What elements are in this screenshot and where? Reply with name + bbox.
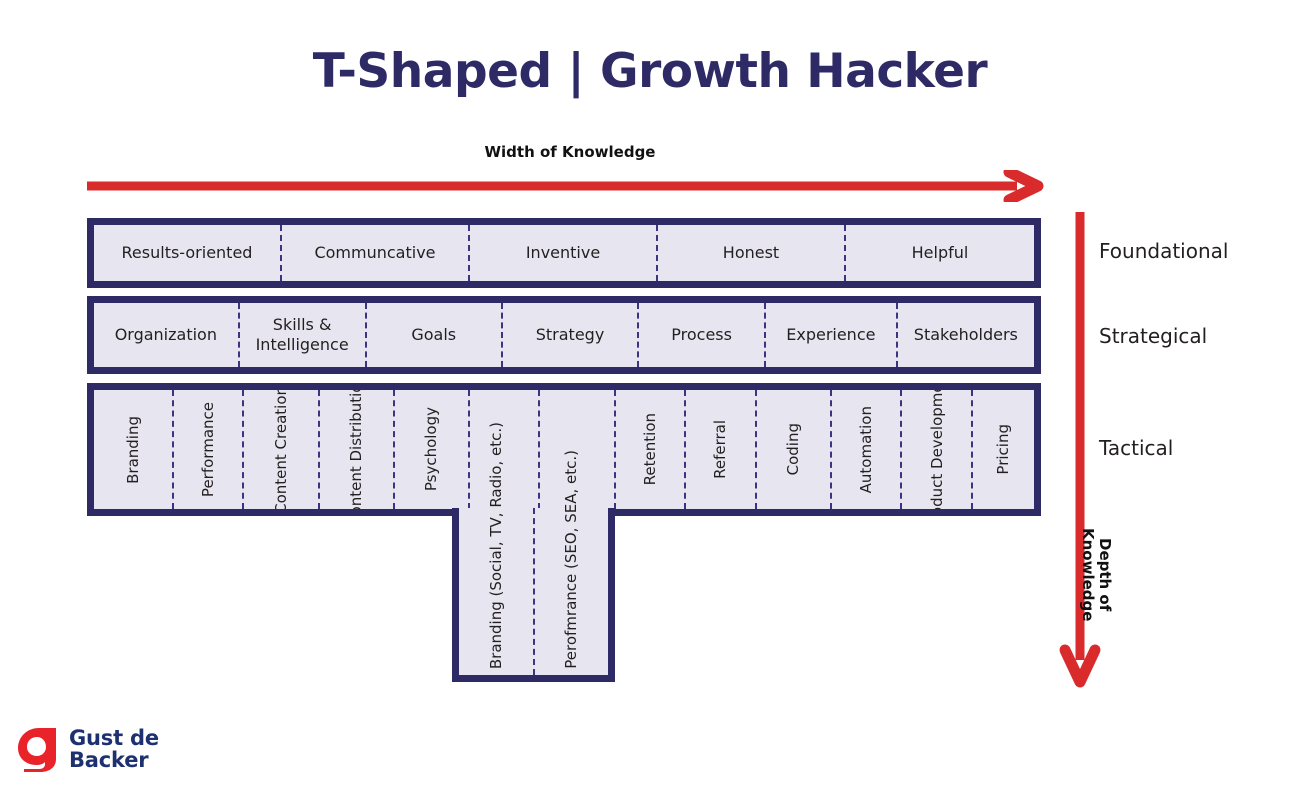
cell-stakeholders[interactable]: Stakeholders: [898, 303, 1034, 367]
brand-logo[interactable]: Gust de Backer: [16, 726, 159, 772]
cell-inventive[interactable]: Inventive: [470, 225, 658, 281]
width-arrow-icon: [87, 170, 1052, 202]
cell-pricing[interactable]: Pricing: [973, 390, 1034, 509]
cell-skills-intelligence[interactable]: Skills & Intelligence: [240, 303, 367, 367]
cell-label: Communcative: [314, 243, 435, 263]
logo-line-1: Gust de: [69, 727, 159, 749]
cell-content-distribution[interactable]: Content Distribution: [320, 390, 395, 509]
cell-communcative[interactable]: Communcative: [282, 225, 470, 281]
cell-retention[interactable]: Retention: [616, 390, 687, 509]
level-label-tactical: Tactical: [1099, 436, 1173, 460]
cell-label: Automation: [857, 406, 875, 493]
gust-de-backer-mark-icon: [16, 726, 60, 772]
cell-goals[interactable]: Goals: [367, 303, 503, 367]
cell-branding-channels[interactable]: Branding (Social, TV, Radio, etc.): [459, 508, 535, 675]
cell-label: Honest: [723, 243, 779, 263]
cell-coding[interactable]: Coding: [757, 390, 832, 509]
level-label-strategical: Strategical: [1099, 324, 1207, 348]
cell-content-creation[interactable]: Content Creation: [244, 390, 319, 509]
cell-label: Content Creation: [272, 390, 290, 509]
depth-line-2: Knowledge: [1079, 528, 1097, 621]
cell-label: Retention: [641, 413, 659, 485]
cell-label: Skills & Intelligence: [244, 315, 361, 354]
cell-label: Experience: [786, 325, 875, 345]
cell-stem-branding-top[interactable]: [470, 390, 541, 509]
band-strategical: Organization Skills & Intelligence Goals…: [87, 296, 1041, 374]
cell-helpful[interactable]: Helpful: [846, 225, 1034, 281]
depth-of-knowledge-label: Depth ofKnowledge: [1085, 528, 1113, 621]
cell-label: Pricing: [994, 424, 1012, 475]
cell-experience[interactable]: Experience: [766, 303, 898, 367]
cell-performance-channels[interactable]: Perofmrance (SEO, SEA, etc.): [535, 508, 609, 675]
cell-label: Inventive: [526, 243, 600, 263]
cell-label: Strategy: [536, 325, 605, 345]
cell-referral[interactable]: Referral: [686, 390, 757, 509]
cell-honest[interactable]: Honest: [658, 225, 846, 281]
cell-label: Coding: [784, 423, 802, 475]
cell-label: Referral: [711, 420, 729, 479]
cell-label: Product Development: [928, 390, 946, 509]
cell-process[interactable]: Process: [639, 303, 766, 367]
cell-label: Branding: [124, 416, 142, 484]
cell-psychology[interactable]: Psychology: [395, 390, 470, 509]
cell-label: Results-oriented: [122, 243, 253, 263]
band-foundational: Results-oriented Communcative Inventive …: [87, 218, 1041, 288]
cell-label: Organization: [115, 325, 217, 345]
cell-label: Perofmrance (SEO, SEA, etc.): [562, 450, 580, 669]
depth-line-1: Depth of: [1096, 538, 1114, 611]
cell-results-oriented[interactable]: Results-oriented: [94, 225, 282, 281]
t-stem-deep-expertise: Branding (Social, TV, Radio, etc.) Perof…: [452, 508, 615, 682]
cell-label: Branding (Social, TV, Radio, etc.): [487, 422, 505, 669]
cell-strategy[interactable]: Strategy: [503, 303, 639, 367]
logo-line-2: Backer: [69, 749, 159, 771]
cell-label: Content Distribution: [347, 390, 365, 509]
cell-label: Psychology: [422, 407, 440, 491]
cell-label: Helpful: [912, 243, 969, 263]
cell-performance[interactable]: Performance: [174, 390, 245, 509]
cell-label: Performance: [199, 402, 217, 497]
width-of-knowledge-label: Width of Knowledge: [0, 143, 1140, 161]
cell-automation[interactable]: Automation: [832, 390, 903, 509]
cell-product-development[interactable]: Product Development: [902, 390, 973, 509]
cell-label: Process: [671, 325, 732, 345]
logo-wordmark: Gust de Backer: [69, 727, 159, 771]
level-label-foundational: Foundational: [1099, 239, 1228, 263]
page-title: T-Shaped | Growth Hacker: [0, 44, 1300, 99]
cell-label: Stakeholders: [914, 325, 1018, 345]
cell-label: Goals: [411, 325, 456, 345]
cell-organization[interactable]: Organization: [94, 303, 240, 367]
cell-branding[interactable]: Branding: [94, 390, 174, 509]
